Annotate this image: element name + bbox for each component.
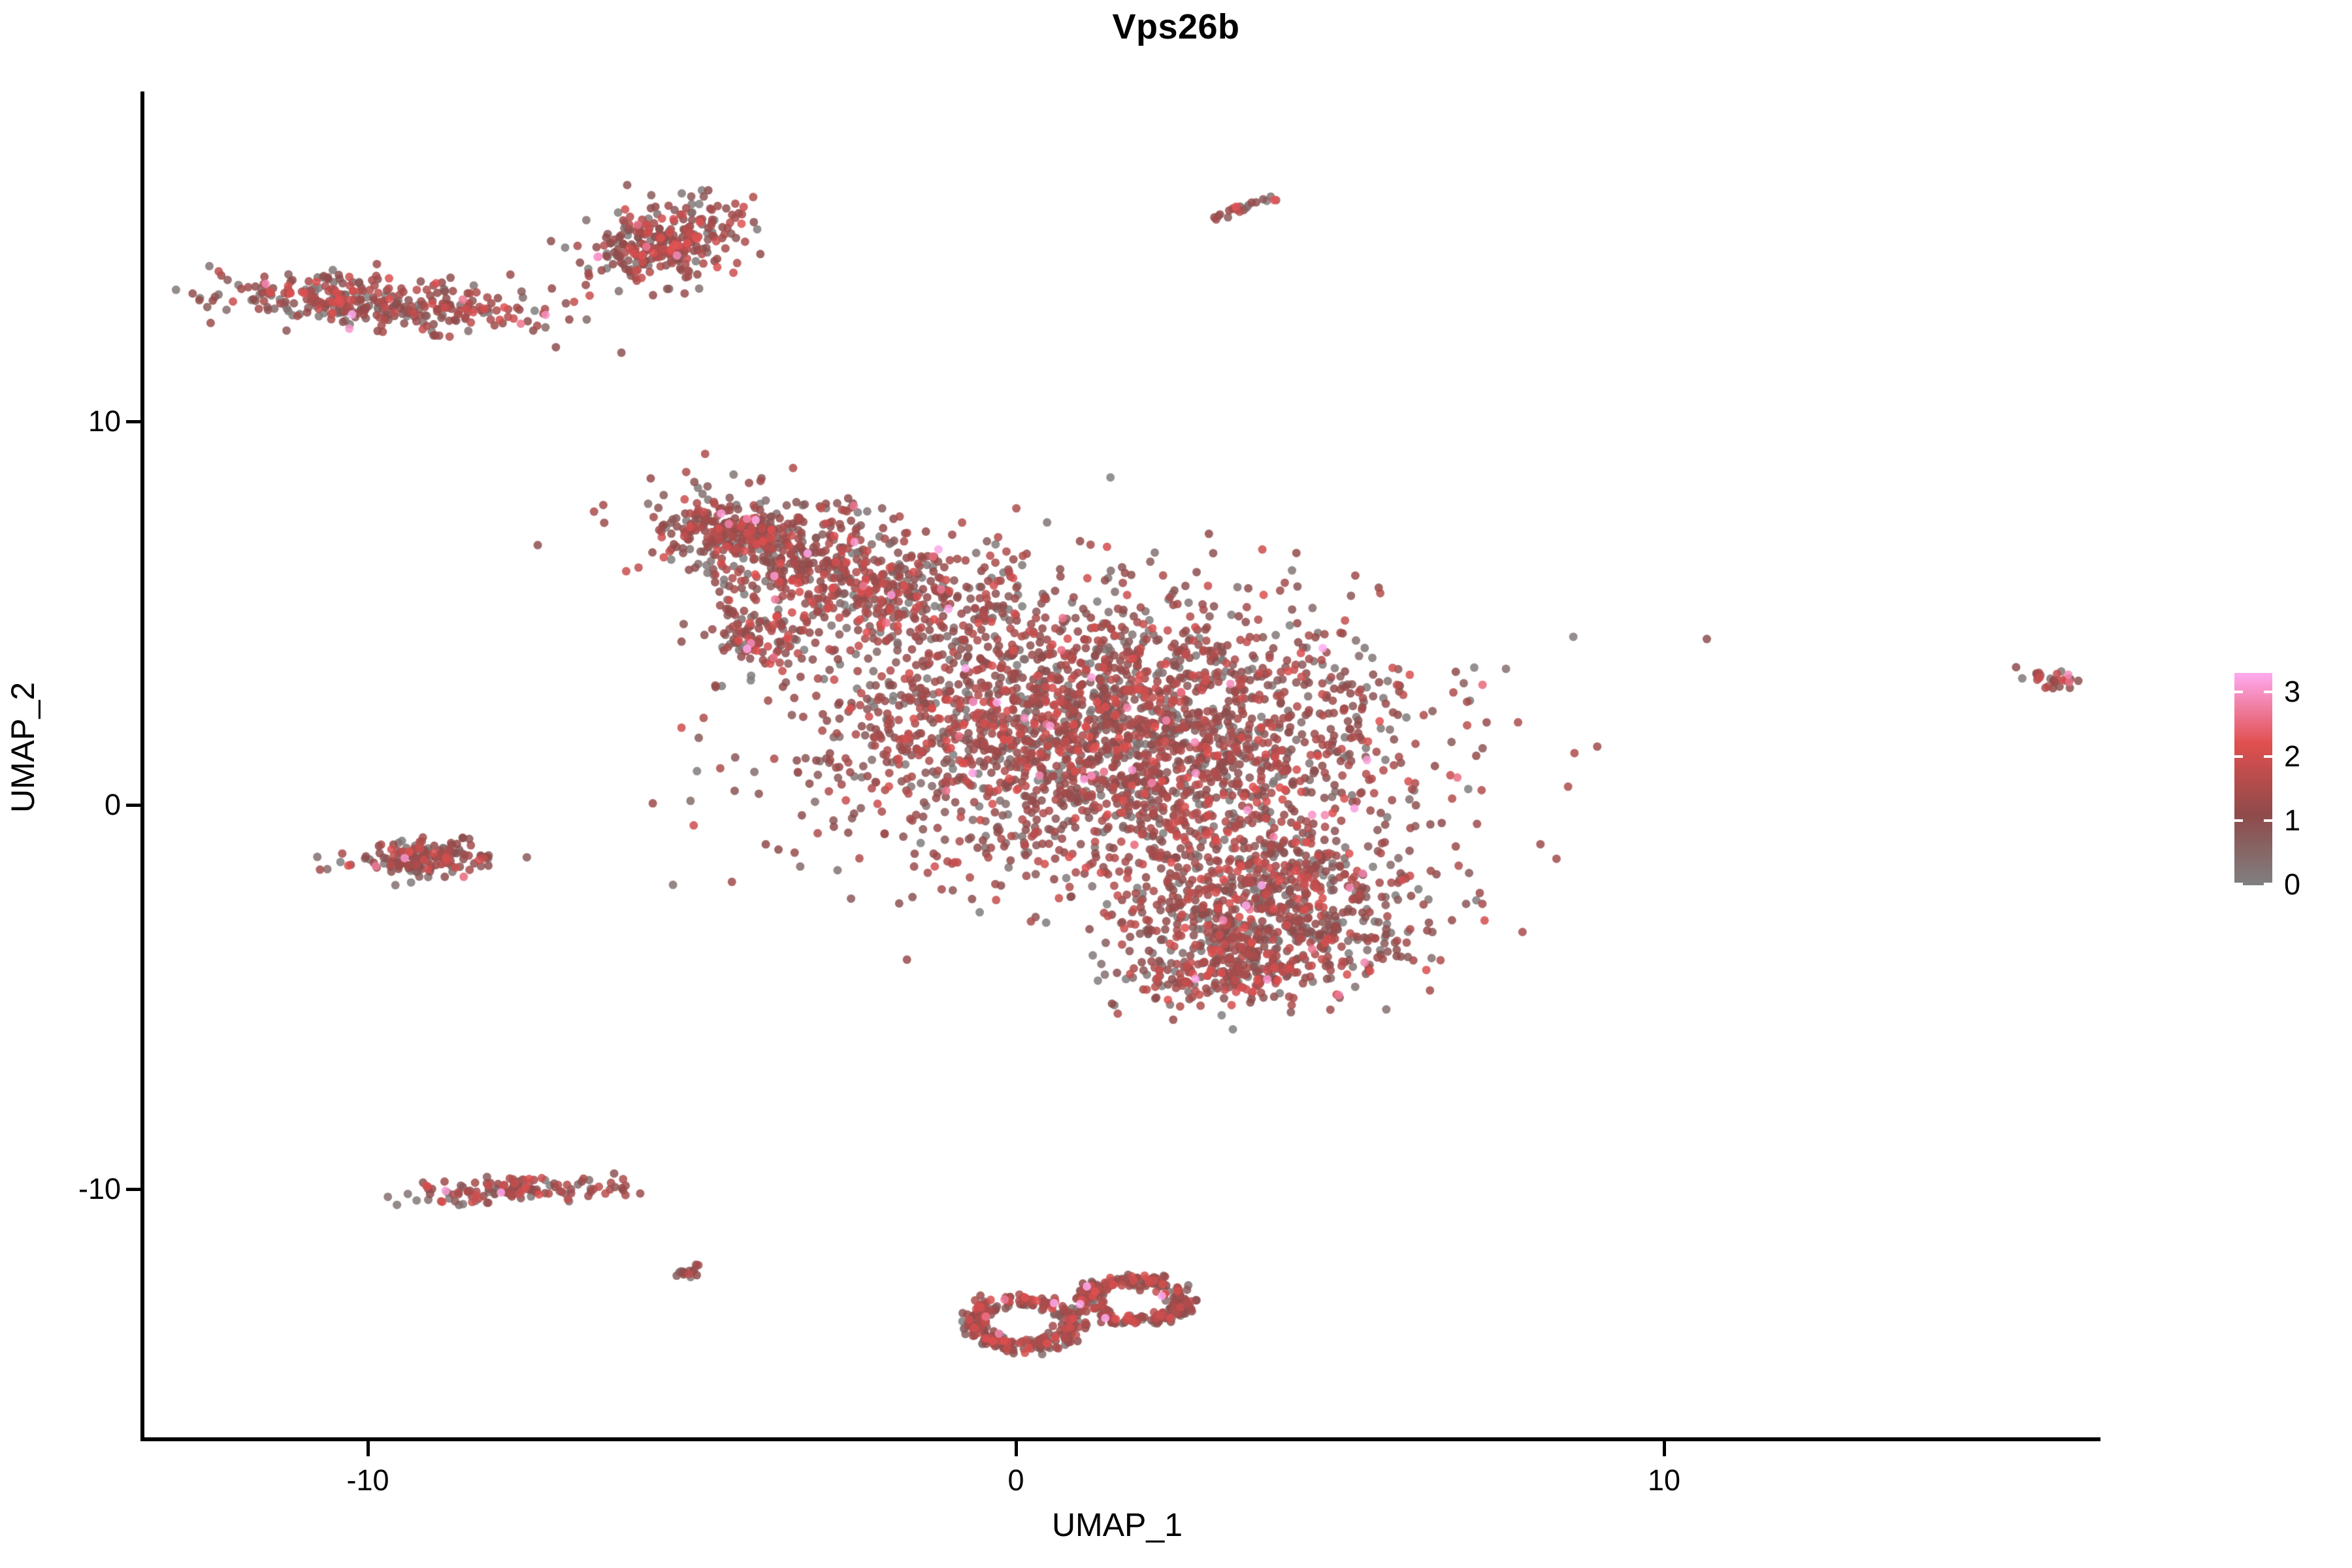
y-tick-mark (126, 1188, 142, 1191)
x-tick-mark (367, 1441, 370, 1456)
colorbar-tick-mark (2234, 883, 2272, 885)
x-tick-label: 0 (1007, 1463, 1024, 1497)
color-legend: 3210 (2234, 673, 2339, 889)
x-tick-mark (1015, 1441, 1018, 1456)
y-tick-mark (126, 804, 142, 807)
plot-panel (144, 91, 2091, 1439)
y-axis-line (140, 91, 144, 1441)
y-tick-mark (126, 420, 142, 423)
colorbar-tick-label: 0 (2284, 868, 2300, 902)
colorbar-tick-mark (2234, 819, 2272, 822)
x-tick-mark (1663, 1441, 1666, 1456)
y-tick-label: -10 (26, 1172, 121, 1206)
colorbar-gradient (2234, 673, 2272, 885)
x-axis-title: UMAP_1 (144, 1506, 2091, 1544)
x-tick-label: -10 (346, 1463, 389, 1497)
colorbar-tick-mark (2234, 691, 2272, 693)
x-axis-line (140, 1437, 2100, 1441)
colorbar-tick-label: 3 (2284, 675, 2300, 709)
colorbar-tick-label: 1 (2284, 804, 2300, 838)
x-tick-label: 10 (1648, 1463, 1680, 1497)
y-axis-title: UMAP_2 (4, 551, 42, 943)
scatter-canvas (144, 91, 2091, 1439)
page-title: Vps26b (0, 7, 2352, 47)
y-tick-label: 10 (26, 404, 121, 438)
colorbar-tick-mark (2234, 755, 2272, 758)
umap-feature-plot: Vps26b 100-10 -10010 UMAP_1 UMAP_2 3210 (0, 0, 2352, 1568)
colorbar-tick-label: 2 (2284, 740, 2300, 774)
